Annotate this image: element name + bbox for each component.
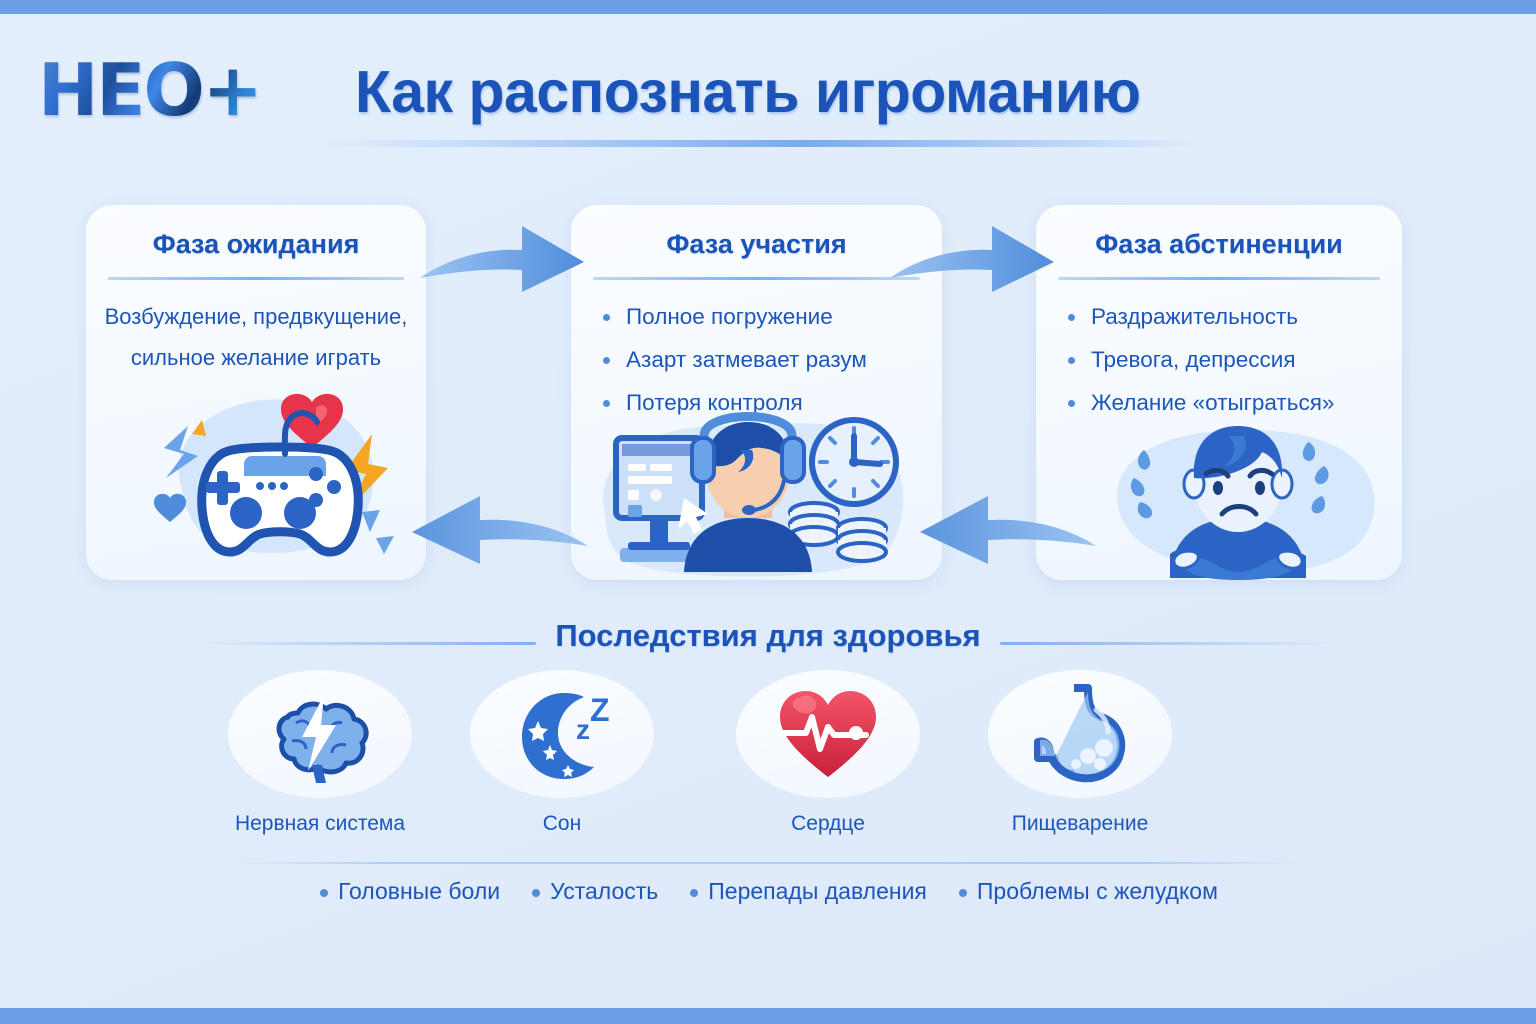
list-item: Азарт затмевает разум [597, 338, 928, 381]
list-item: Усталость [530, 878, 658, 905]
phase-bullet-list: Полное погружение Азарт затмевает разум … [597, 295, 928, 424]
section-title: Последствия для здоровья [0, 618, 1536, 654]
brain-lightning-icon [268, 683, 372, 785]
icon-blob: z Z [470, 670, 654, 798]
icon-blob [228, 670, 412, 798]
infographic-poster: HEO+ Как распознать игроманию Фаза ожида… [0, 0, 1536, 1024]
stomach-icon [1030, 682, 1130, 786]
consequence-label: Сердце [708, 812, 948, 836]
consequence-label: Нервная система [200, 812, 440, 836]
icon-blob [736, 670, 920, 798]
svg-text:z: z [576, 714, 590, 745]
list-item: Тревога, депрессия [1062, 338, 1388, 381]
card-divider [593, 277, 920, 280]
list-item: Перепады давления [688, 878, 927, 905]
card-divider [108, 277, 404, 280]
consequence-nervous-system[interactable]: Нервная система [200, 670, 440, 836]
list-item: Полное погружение [597, 295, 928, 338]
heart-ecg-icon [774, 685, 882, 783]
phase-card-title: Фаза ожидания [86, 229, 426, 260]
page-title: Как распознать игроманию [355, 58, 1195, 126]
consequence-label: Пищеварение [960, 812, 1200, 836]
icon-blob [988, 670, 1172, 798]
brand-logo: HEO+ [38, 48, 261, 132]
list-item: Головные боли [318, 878, 500, 905]
consequence-digestion[interactable]: Пищеварение [960, 670, 1200, 836]
list-item: Раздражительность [1062, 295, 1388, 338]
title-underline [318, 140, 1198, 147]
consequence-sleep[interactable]: z Z Сон [442, 670, 682, 836]
gamepad-heart-icon [140, 386, 430, 576]
card-divider [1058, 277, 1380, 280]
consequence-heart[interactable]: Сердце [708, 670, 948, 836]
symptom-list: Головные боли Усталость Перепады давлени… [0, 878, 1536, 905]
list-item: Желание «отыграться» [1062, 381, 1388, 424]
phase-bullet-list: Раздражительность Тревога, депрессия Жел… [1062, 295, 1388, 424]
phase-card-description: Возбуждение, предвкущение, сильное желан… [100, 296, 412, 378]
sad-person-icon [1108, 422, 1384, 580]
svg-text:Z: Z [590, 692, 610, 728]
header: HEO+ Как распознать игроманию [0, 22, 1536, 142]
consequence-label: Сон [442, 812, 682, 836]
phase-card-title: Фаза участия [571, 229, 942, 260]
section-rule-right [1000, 642, 1340, 645]
consequences-section-header: Последствия для здоровья [0, 618, 1536, 678]
gamer-headset-clock-coins-icon [592, 412, 918, 580]
bottom-divider [236, 862, 1300, 864]
consequences-icon-row: Нервная система z Z Сон [0, 670, 1536, 860]
list-item: Проблемы с желудком [957, 878, 1218, 905]
phase-card-title: Фаза абстиненции [1036, 229, 1402, 260]
moon-zzz-icon: z Z [506, 683, 618, 785]
